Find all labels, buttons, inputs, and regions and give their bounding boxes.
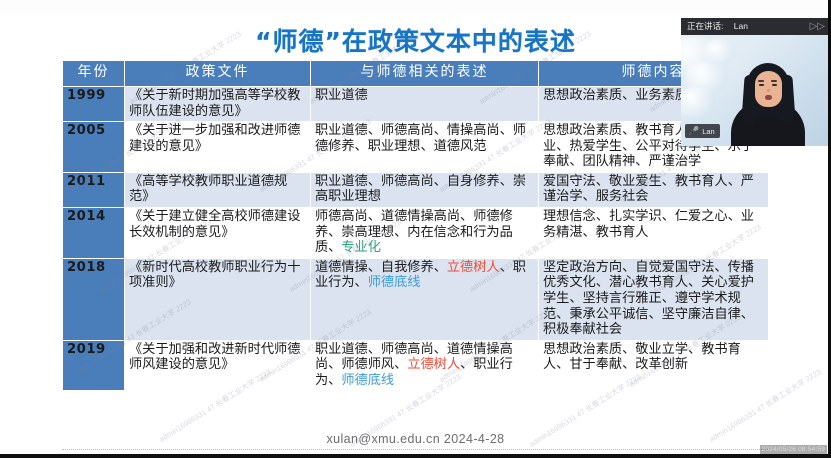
- video-speaking-bar: 正在讲话: Lan ▷▷: [681, 18, 831, 35]
- table-head: 年份 政策文件 与师德相关的表述 师德内容: [63, 61, 769, 87]
- table-body: 1999《关于新时期加强高等学校教师队伍建设的意见》职业道德思想政治素质、业务素…: [63, 87, 769, 391]
- highlighted-term: 立德树人: [407, 357, 460, 372]
- col-header-year: 年份: [63, 61, 125, 87]
- expression-text: 职业道德、师德高尚、自身修养、崇高职业理想: [315, 174, 526, 205]
- cell-expression: 职业道德、师德高尚、道德情操高尚、师德师风、立德树人、职业行为、师德底线: [311, 340, 539, 391]
- cell-expression: 职业道德、师德高尚、自身修养、崇高职业理想: [311, 172, 539, 207]
- expression-text: 职业道德: [315, 88, 368, 103]
- footer-divider: [62, 449, 768, 451]
- cell-content: 爱国守法、敬业爱生、教书育人、严谨治学、服务社会: [539, 172, 769, 207]
- cell-document: 《关于加强和改进新时代师德师风建设的意见》: [125, 340, 311, 391]
- table-row: 2019《关于加强和改进新时代师德师风建设的意见》职业道德、师德高尚、道德情操高…: [63, 340, 769, 391]
- mic-status-badge[interactable]: 🎤 Lan: [685, 124, 720, 138]
- table-row: 2018《新时代高校教师职业行为十项准则》道德情操、自我修养、立德树人、职业行为…: [63, 258, 769, 340]
- more-icon[interactable]: ▷▷: [809, 21, 825, 32]
- video-feed: 🎤 Lan: [681, 35, 831, 146]
- cell-expression: 师德高尚、道德情操高尚、师德修养、崇高理想、内在信念和行为品质、专业化: [311, 208, 539, 259]
- expression-text: 职业道德、师德高尚、情操高尚、师德修养、职业理想、道德风范: [315, 123, 526, 154]
- highlighted-term: 师德底线: [368, 275, 421, 290]
- cell-year: 1999: [63, 87, 125, 122]
- cell-year: 2018: [63, 258, 125, 340]
- cell-document: 《新时代高校教师职业行为十项准则》: [125, 258, 311, 340]
- cell-content: 思想政治素质、敬业立学、教书育人、甘于奉献、改革创新: [539, 340, 769, 391]
- cell-year: 2019: [63, 340, 125, 391]
- cell-document: 《关于建立健全高校师德建设长效机制的意见》: [125, 208, 311, 259]
- table-row: 2011《高等学校教师职业道德规范》职业道德、师德高尚、自身修养、崇高职业理想爱…: [63, 172, 769, 207]
- cell-year: 2005: [63, 122, 125, 173]
- person-mouth: [765, 95, 772, 100]
- person-brow-right: [771, 80, 777, 82]
- highlighted-term: 立德树人: [447, 260, 500, 275]
- cell-document: 《高等学校教师职业道德规范》: [125, 172, 311, 207]
- person-eye-left: [759, 84, 764, 86]
- person-brow-left: [758, 80, 764, 82]
- slide-footer: xulan@xmu.edu.cn 2024-4-28: [0, 432, 831, 446]
- person-eye-right: [772, 84, 777, 86]
- recording-timestamp: 2024/05/26 08:54:59: [760, 445, 827, 454]
- policy-table: 年份 政策文件 与师德相关的表述 师德内容 1999《关于新时期加强高等学校教师…: [62, 60, 769, 391]
- cell-document: 《关于新时期加强高等学校教师队伍建设的意见》: [125, 87, 311, 122]
- highlighted-term: 专业化: [341, 240, 381, 255]
- person-nose: [767, 89, 770, 92]
- table-header-row: 年份 政策文件 与师德相关的表述 师德内容: [63, 61, 769, 87]
- cell-expression: 道德情操、自我修养、立德树人、职业行为、师德底线: [311, 258, 539, 340]
- highlighted-term: 师德底线: [341, 373, 394, 388]
- cell-year: 2011: [63, 172, 125, 207]
- cell-expression: 职业道德、师德高尚、情操高尚、师德修养、职业理想、道德风范: [311, 122, 539, 173]
- video-tile[interactable]: 正在讲话: Lan ▷▷ 🎤 Lan: [681, 18, 831, 146]
- speaking-label: 正在讲话:: [687, 21, 723, 31]
- col-header-expr: 与师德相关的表述: [311, 61, 539, 87]
- table-row: 1999《关于新时期加强高等学校教师队伍建设的意见》职业道德思想政治素质、业务素…: [63, 87, 769, 122]
- cell-content: 坚定政治方向、自觉爱国守法、传播优秀文化、潜心教书育人、关心爱护学生、坚持言行雅…: [539, 258, 769, 340]
- col-header-doc: 政策文件: [125, 61, 311, 87]
- table-row: 2005《关于进一步加强和改进师德建设的意见》职业道德、师德高尚、情操高尚、师德…: [63, 122, 769, 173]
- table-row: 2014《关于建立健全高校师德建设长效机制的意见》师德高尚、道德情操高尚、师德修…: [63, 208, 769, 259]
- screen-bottom-edge: [0, 454, 831, 458]
- mic-participant-name: Lan: [702, 127, 715, 136]
- expression-text: 道德情操、自我修养、: [315, 260, 447, 275]
- cell-expression: 职业道德: [311, 87, 539, 122]
- cell-document: 《关于进一步加强和改进师德建设的意见》: [125, 122, 311, 173]
- speaker-name: Lan: [734, 21, 748, 31]
- screen: “师德”在政策文本中的表述 年份 政策文件 与师德相关的表述 师德内容 1999…: [0, 0, 831, 458]
- cell-year: 2014: [63, 208, 125, 259]
- microphone-icon: 🎤: [688, 127, 699, 136]
- cell-content: 理想信念、扎实学识、仁爱之心、业务精湛、教书育人: [539, 208, 769, 259]
